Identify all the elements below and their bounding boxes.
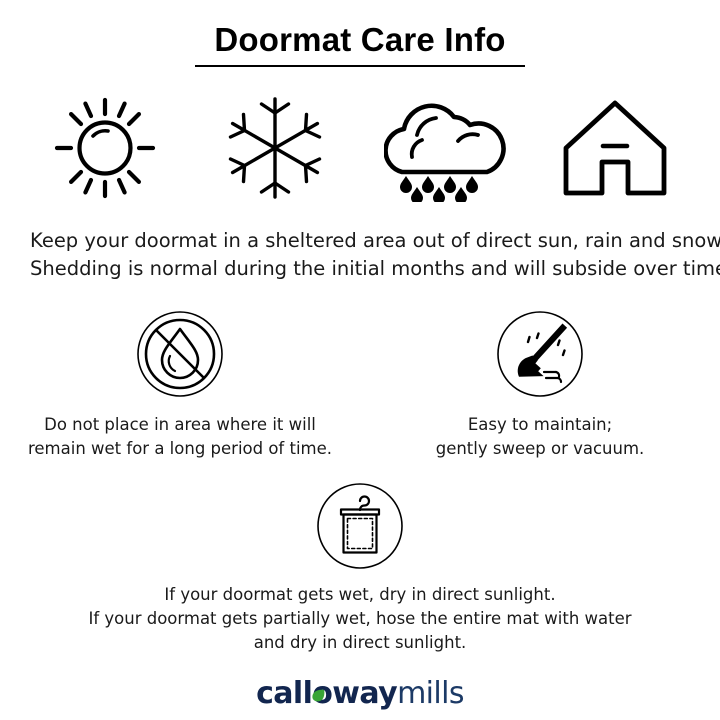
care-column-no-water: Do not place in area where it will remai… xyxy=(0,308,360,460)
page-title: Doormat Care Info xyxy=(195,22,525,59)
title-block: Doormat Care Info xyxy=(195,22,525,67)
sweep-caption-line-1: Easy to maintain; xyxy=(436,413,645,436)
logo-secondary-text: mills xyxy=(397,679,464,709)
logo-primary-word: calloway xyxy=(256,679,397,709)
dry-caption: If your doormat gets wet, dry in direct … xyxy=(88,583,631,655)
sun-icon xyxy=(40,93,170,203)
care-column-sweep: Easy to maintain; gently sweep or vacuum… xyxy=(360,308,720,460)
rain-cloud-icon xyxy=(380,93,510,203)
no-water-caption-line-2: remain wet for a long period of time. xyxy=(28,437,332,460)
broom-icon xyxy=(496,308,584,400)
dry-instructions-block: If your doormat gets wet, dry in direct … xyxy=(0,480,720,655)
hanging-mat-icon xyxy=(316,480,404,572)
snowflake-icon xyxy=(210,93,340,203)
dry-caption-line-1: If your doormat gets wet, dry in direct … xyxy=(88,583,631,607)
intro-paragraph: Keep your doormat in a sheltered area ou… xyxy=(30,227,690,282)
house-icon xyxy=(550,93,680,203)
logo-wordmark: calloway mills xyxy=(256,679,464,709)
care-columns: Do not place in area where it will remai… xyxy=(0,308,720,460)
sweep-caption: Easy to maintain; gently sweep or vacuum… xyxy=(436,413,645,460)
intro-line-1: Keep your doormat in a sheltered area ou… xyxy=(30,227,690,255)
dry-caption-line-2: If your doormat gets partially wet, hose… xyxy=(88,607,631,631)
brand-logo: calloway mills xyxy=(0,679,720,709)
title-underline-rule xyxy=(195,65,525,67)
no-water-caption: Do not place in area where it will remai… xyxy=(28,413,332,460)
dry-caption-line-3: and dry in direct sunlight. xyxy=(88,631,631,655)
sweep-caption-line-2: gently sweep or vacuum. xyxy=(436,437,645,460)
intro-line-2: Shedding is normal during the initial mo… xyxy=(30,255,690,283)
no-water-icon xyxy=(136,308,224,400)
leaf-icon xyxy=(311,688,326,703)
doormat-care-info-page: Doormat Care Info xyxy=(0,0,720,720)
logo-primary-text: calloway xyxy=(256,676,397,711)
no-water-caption-line-1: Do not place in area where it will xyxy=(28,413,332,436)
weather-icon-row xyxy=(40,93,680,203)
